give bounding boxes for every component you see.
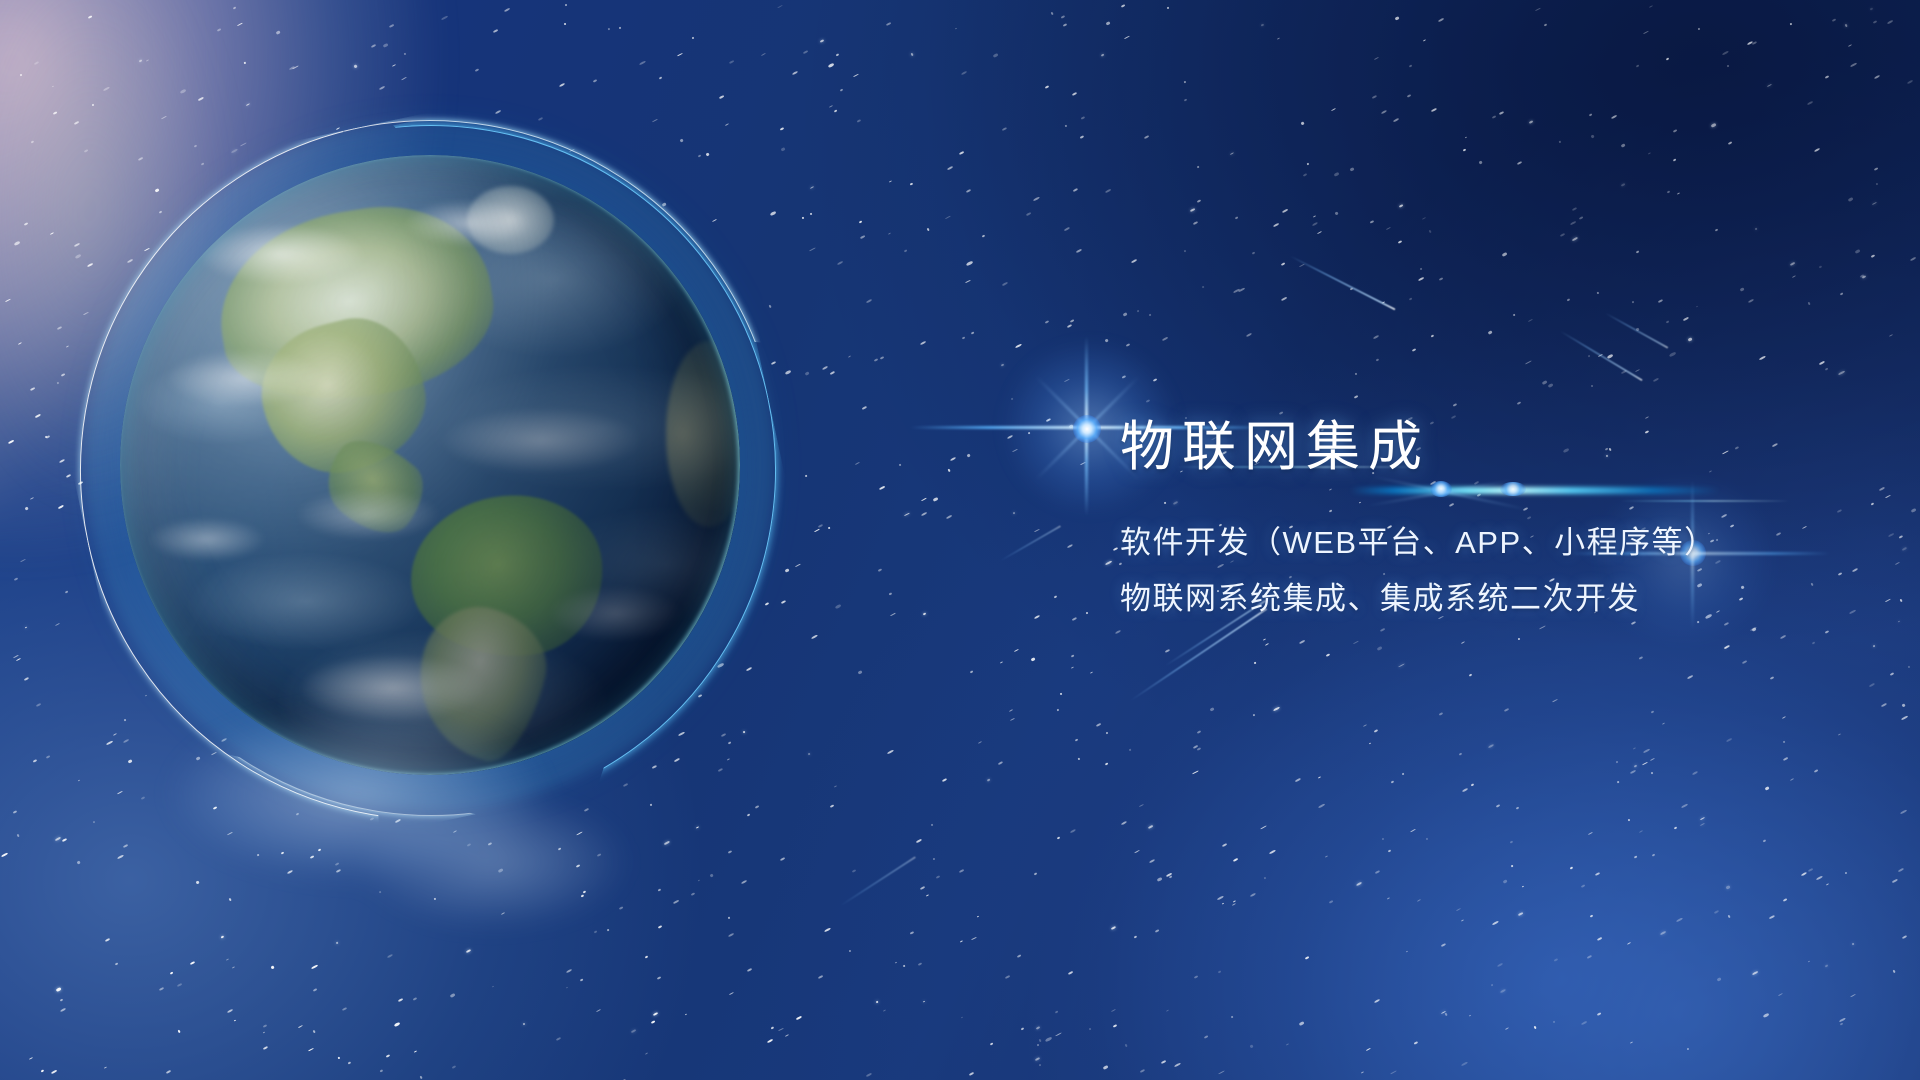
star — [920, 886, 925, 890]
star — [1461, 919, 1464, 921]
star — [16, 658, 21, 661]
star — [1566, 299, 1569, 302]
star — [887, 749, 894, 754]
star — [822, 366, 828, 370]
star — [564, 3, 567, 6]
star — [959, 869, 964, 873]
star — [1453, 403, 1457, 407]
star — [1061, 15, 1065, 19]
star — [492, 986, 495, 988]
star — [385, 1054, 389, 1058]
star — [728, 916, 730, 918]
star — [761, 53, 766, 56]
star — [1873, 644, 1876, 647]
star — [1700, 817, 1705, 821]
star — [1572, 207, 1578, 211]
star — [778, 1027, 784, 1031]
star — [41, 1070, 44, 1073]
star — [1636, 64, 1640, 67]
star — [946, 515, 952, 519]
star — [1458, 752, 1462, 756]
star — [1826, 884, 1829, 886]
star — [232, 967, 235, 970]
star — [177, 983, 182, 987]
star — [810, 186, 814, 189]
star — [117, 790, 123, 794]
star — [1839, 292, 1842, 295]
star — [911, 52, 914, 55]
star — [691, 37, 694, 40]
star — [1398, 663, 1404, 667]
star — [1666, 58, 1670, 61]
star — [1230, 152, 1235, 155]
star — [1521, 886, 1524, 888]
star — [1518, 637, 1521, 640]
star — [1792, 275, 1796, 278]
star — [742, 731, 745, 734]
star — [1129, 749, 1131, 751]
star — [193, 144, 197, 148]
star — [25, 626, 27, 628]
star — [1462, 787, 1468, 792]
star — [920, 341, 926, 345]
star — [1499, 111, 1504, 115]
star — [1329, 900, 1333, 903]
star — [1201, 285, 1204, 287]
star — [1728, 915, 1731, 918]
star — [1280, 297, 1286, 301]
star — [725, 123, 729, 126]
star — [1548, 383, 1554, 388]
star — [1825, 75, 1830, 79]
star — [1148, 825, 1153, 829]
star — [792, 70, 798, 74]
star — [889, 180, 892, 182]
star — [36, 703, 41, 707]
star — [1879, 487, 1885, 492]
star — [1783, 899, 1787, 902]
star — [1617, 781, 1620, 783]
star — [1381, 837, 1384, 840]
star — [1769, 676, 1774, 680]
star — [1354, 372, 1357, 375]
star — [1165, 649, 1170, 653]
star — [1752, 627, 1757, 631]
star — [104, 937, 109, 941]
star — [818, 524, 823, 528]
star — [631, 1029, 637, 1033]
star — [371, 44, 376, 48]
star — [348, 1061, 351, 1064]
star — [1065, 125, 1068, 128]
star — [1079, 136, 1084, 140]
star — [658, 76, 662, 79]
star — [1635, 369, 1640, 372]
star — [1111, 1009, 1116, 1012]
star — [180, 89, 186, 94]
star — [379, 86, 385, 90]
star — [1081, 117, 1085, 121]
star — [1021, 1028, 1024, 1031]
star — [1410, 829, 1416, 833]
star — [1036, 1044, 1039, 1047]
star — [28, 1058, 32, 1061]
star — [1813, 769, 1817, 772]
star — [1499, 988, 1505, 993]
star — [1044, 85, 1049, 89]
star — [1852, 567, 1859, 572]
star — [1067, 323, 1073, 327]
star — [1814, 148, 1820, 152]
star — [263, 1046, 268, 1050]
star — [1121, 4, 1125, 7]
star — [1767, 84, 1772, 87]
star — [1249, 892, 1255, 896]
star — [769, 211, 775, 216]
star — [493, 29, 498, 33]
star — [62, 837, 67, 841]
star — [113, 733, 117, 736]
star — [566, 968, 572, 972]
star — [1525, 361, 1532, 365]
star — [1902, 935, 1908, 939]
star — [311, 964, 317, 968]
star — [494, 109, 500, 113]
star — [226, 958, 229, 961]
star — [978, 741, 982, 744]
star — [1073, 188, 1078, 192]
star — [559, 83, 565, 87]
star — [1559, 141, 1561, 144]
star — [857, 120, 861, 124]
star — [596, 1009, 601, 1013]
star — [1621, 183, 1625, 186]
banner-text-block: 物联网集成 软件开发（WEB平台、APP、小程序等） 物联网系统集成、集成系统二… — [1120, 418, 1840, 617]
star — [889, 593, 892, 596]
star — [1502, 252, 1508, 257]
star — [1354, 395, 1358, 398]
star — [1633, 747, 1636, 749]
star — [1812, 641, 1815, 644]
star — [1543, 23, 1546, 26]
star — [1356, 882, 1362, 886]
star — [1155, 929, 1159, 932]
star — [593, 79, 597, 82]
star — [807, 753, 810, 755]
star — [645, 1052, 648, 1055]
star — [1303, 173, 1307, 176]
star — [1056, 708, 1059, 711]
star — [177, 1029, 180, 1032]
star — [835, 54, 838, 57]
star — [859, 220, 862, 223]
star — [1572, 237, 1578, 242]
star — [690, 892, 695, 896]
star — [1807, 100, 1813, 104]
star — [1895, 562, 1900, 565]
star — [1005, 975, 1010, 979]
star — [170, 971, 174, 974]
star — [276, 30, 281, 34]
star — [1643, 749, 1649, 753]
star — [1193, 221, 1198, 225]
star — [475, 68, 480, 72]
star — [1015, 344, 1022, 349]
star — [1588, 114, 1591, 117]
star — [1889, 672, 1894, 676]
star — [1325, 653, 1330, 657]
star — [651, 1020, 656, 1023]
star — [1305, 956, 1309, 959]
star — [401, 77, 407, 81]
star — [657, 976, 662, 980]
star — [244, 62, 247, 65]
star — [1714, 910, 1719, 914]
star — [1104, 338, 1108, 342]
star — [216, 28, 220, 31]
star — [947, 166, 953, 170]
star — [1252, 251, 1256, 254]
star — [1245, 333, 1251, 337]
star — [1034, 614, 1040, 619]
star — [1642, 762, 1648, 766]
star — [1051, 11, 1054, 14]
star — [805, 371, 810, 375]
star — [830, 371, 835, 375]
star — [1088, 1028, 1091, 1031]
star — [1902, 547, 1907, 551]
star — [784, 370, 790, 375]
star — [580, 979, 584, 982]
star — [1673, 129, 1677, 132]
star — [1553, 958, 1557, 962]
star — [795, 564, 800, 568]
star — [768, 305, 771, 308]
star — [1070, 829, 1077, 834]
star — [412, 997, 416, 1001]
star — [1769, 915, 1776, 920]
star — [990, 1042, 993, 1045]
star — [1673, 159, 1677, 162]
star — [419, 1075, 422, 1078]
star — [1901, 716, 1908, 720]
star — [1871, 254, 1876, 258]
star — [1666, 320, 1669, 323]
star — [1000, 662, 1003, 665]
star — [1669, 351, 1676, 356]
star — [1281, 262, 1286, 266]
star — [55, 836, 61, 841]
star — [1505, 1027, 1509, 1030]
star — [1066, 544, 1073, 549]
star — [1174, 1063, 1181, 1068]
star — [987, 778, 991, 781]
star — [1438, 17, 1444, 21]
star — [1045, 320, 1049, 324]
star — [1651, 771, 1654, 774]
star — [645, 955, 649, 958]
star — [393, 1022, 399, 1027]
star — [1124, 36, 1129, 40]
star — [1106, 21, 1110, 25]
star — [1588, 832, 1593, 835]
star — [1318, 803, 1325, 808]
star — [1595, 872, 1600, 876]
star — [966, 453, 970, 457]
star — [1710, 123, 1715, 127]
star — [13, 810, 18, 814]
star — [1630, 770, 1636, 774]
star — [1105, 188, 1111, 192]
star — [1845, 23, 1848, 26]
star — [923, 1001, 926, 1003]
star — [1036, 1026, 1040, 1029]
star — [1071, 667, 1075, 670]
star — [1386, 227, 1391, 230]
star — [84, 149, 88, 152]
star — [607, 28, 610, 31]
star — [873, 358, 878, 362]
star — [1102, 1065, 1107, 1070]
star — [970, 671, 973, 674]
star — [1818, 360, 1824, 365]
star — [1807, 301, 1810, 304]
star — [1312, 215, 1315, 217]
banner-stage: 物联网集成 软件开发（WEB平台、APP、小程序等） 物联网系统集成、集成系统二… — [0, 0, 1920, 1080]
star — [1231, 1016, 1234, 1018]
star — [1542, 380, 1548, 385]
star — [1597, 1012, 1602, 1015]
star — [883, 1009, 886, 1012]
star — [1277, 37, 1281, 40]
star — [60, 999, 64, 1002]
star — [1166, 6, 1168, 9]
star — [880, 357, 884, 360]
star — [1217, 970, 1220, 973]
star — [1369, 743, 1371, 745]
star — [74, 121, 79, 125]
star — [1373, 334, 1379, 339]
star — [921, 497, 927, 501]
star — [313, 1030, 316, 1033]
star — [1260, 825, 1266, 829]
star — [961, 1017, 963, 1019]
star — [1899, 536, 1903, 540]
star — [1465, 136, 1467, 138]
star — [1397, 241, 1401, 245]
star — [950, 457, 956, 462]
star — [392, 64, 396, 67]
star — [1002, 127, 1008, 131]
star — [1513, 313, 1515, 315]
star — [1026, 211, 1032, 215]
star — [1014, 649, 1019, 652]
star — [1747, 299, 1753, 303]
star — [240, 143, 246, 147]
star — [1335, 211, 1339, 215]
star — [1204, 1035, 1208, 1038]
star — [1907, 80, 1913, 84]
star — [971, 936, 977, 940]
star — [1616, 760, 1619, 763]
star — [780, 127, 784, 130]
star — [1901, 704, 1904, 707]
star — [955, 28, 957, 30]
star — [1910, 257, 1916, 261]
star — [1762, 840, 1765, 843]
star — [1390, 780, 1394, 783]
star — [1900, 598, 1903, 601]
star — [1106, 731, 1109, 734]
star — [30, 140, 33, 143]
star — [1579, 216, 1583, 219]
star — [1063, 24, 1068, 28]
star — [56, 987, 62, 992]
star — [503, 8, 509, 12]
star — [855, 462, 860, 465]
star — [1031, 658, 1035, 662]
star — [1850, 994, 1856, 998]
star — [1487, 743, 1494, 748]
star — [898, 464, 900, 466]
star — [1360, 1071, 1363, 1073]
star — [522, 1023, 525, 1026]
star — [1539, 626, 1545, 630]
star — [1161, 1060, 1166, 1064]
star — [1533, 1026, 1536, 1029]
star — [556, 1037, 561, 1041]
star — [1487, 330, 1492, 334]
star — [1363, 724, 1367, 727]
star — [1892, 969, 1895, 972]
star — [1197, 748, 1202, 752]
star — [795, 1016, 801, 1021]
star — [1516, 401, 1521, 405]
star — [961, 336, 964, 339]
star — [966, 189, 971, 193]
star — [933, 497, 938, 501]
star — [959, 940, 962, 942]
star — [1727, 65, 1730, 68]
star — [1742, 660, 1748, 664]
star — [1683, 317, 1689, 322]
star — [1891, 879, 1897, 884]
star — [729, 992, 734, 996]
star — [336, 127, 340, 130]
star — [1633, 764, 1637, 768]
star — [1687, 674, 1693, 678]
star — [1300, 121, 1304, 124]
star — [1688, 337, 1693, 341]
star — [1495, 804, 1499, 807]
star — [20, 559, 26, 563]
star — [1872, 202, 1877, 205]
star — [1419, 268, 1421, 270]
star — [1299, 640, 1305, 644]
star — [59, 1007, 65, 1011]
star — [1232, 903, 1236, 906]
star — [1317, 231, 1322, 235]
star — [1461, 1061, 1468, 1066]
star — [83, 311, 89, 315]
lens-flare-core — [1073, 415, 1101, 443]
star — [1234, 217, 1237, 219]
star — [1590, 134, 1594, 138]
star — [834, 109, 838, 112]
star — [103, 86, 110, 91]
star — [1144, 135, 1150, 139]
star — [1253, 713, 1256, 716]
